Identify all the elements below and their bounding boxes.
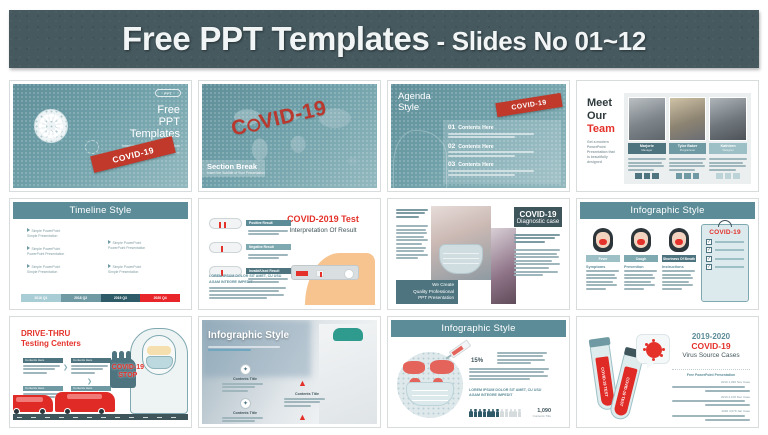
woman-avatar-icon [586, 226, 620, 254]
team-desc [709, 157, 747, 173]
infographic-subtitle [208, 344, 298, 353]
arrow-down-icon: ❯ [87, 378, 92, 385]
section-break-subtitle: Insert the Subtitle of Your Presentation [207, 171, 265, 176]
checklist-row[interactable]: ✓ [706, 239, 744, 245]
result-tag: Invalid/Used Result [246, 268, 291, 274]
team-nameplate: Kathleen Designer [709, 143, 747, 154]
team-title-line1: Meet [587, 97, 617, 110]
masked-people-outline [393, 130, 447, 188]
caption-head: LOREM IPSUM DOLOR SIT AMET, CU USU AGAM … [209, 274, 289, 285]
timeline-segment-label: 2016 Q1 [34, 296, 47, 300]
masked-woman-photo [431, 206, 491, 280]
agenda-list: 01Contents Here 02Contents Here 03Conten… [443, 120, 561, 184]
agenda-item-number: 03 [448, 161, 455, 168]
team-card[interactable]: Marjorie Manager [628, 97, 666, 180]
timeline-bar: 2016 Q1 2018 Q2 2019 Q3 2020 Q4 [21, 294, 180, 302]
team-title: Meet Our Team Get a modern PowerPoint Pr… [587, 97, 617, 166]
agenda-item-number: 01 [448, 124, 455, 131]
linkedin-icon[interactable] [676, 173, 683, 180]
woman-avatar-icon [662, 226, 696, 254]
slide-grid: PPT Free [9, 80, 759, 428]
checklist-row[interactable]: ✓ [706, 264, 744, 270]
content-box-label: Contents Here [23, 386, 63, 391]
timeline-note-text: Simple PowerPoint Simple Presentation [27, 229, 60, 238]
banner-title-sub: Slides No 01~12 [452, 26, 646, 56]
timeline-segment-label: 2018 Q2 [74, 296, 87, 300]
team-title-line2: Our [587, 110, 617, 123]
result-tag: Positive Result [246, 220, 291, 226]
timeline-note-text: Simple PowerPoint PowerPoint Presentatio… [108, 241, 145, 250]
result-tag-label: Invalid/Used Result [246, 268, 291, 274]
arrow-right-icon: ❯ [63, 364, 68, 371]
section-break-label: Section Break Insert the Subtitle of You… [202, 160, 265, 177]
team-nameplate: Marjorie Manager [628, 143, 666, 154]
social-icons[interactable] [709, 173, 747, 181]
infographic-node[interactable]: ✦ Contents Title [240, 364, 268, 393]
result-tag-label: Negative Result [246, 244, 291, 250]
timeline-header: Timeline Style [13, 202, 188, 219]
symptom-head: Symptoms [586, 265, 620, 269]
title-year: 2019-2020 [672, 332, 750, 341]
virus-source-title: 2019-2020 COVID-19 Virus Source Cases [672, 332, 750, 359]
team-card[interactable]: Kathleen Designer [709, 97, 747, 180]
caption-block: LOREM IPSUM DOLOR SIT AMET, CU USU AGAM … [209, 274, 289, 301]
slide-thumbnail-11[interactable]: Infographic Style 15% [387, 316, 570, 428]
team-title-line3: Team [587, 123, 617, 136]
footer-line3: PPT Presentation [418, 295, 454, 302]
node-icon: ✦ [240, 364, 251, 375]
block-head-wrap: LOREM IPSUM DOLOR SIT AMET, CU USU AGAM … [469, 388, 551, 399]
team-card[interactable]: Tylor Baker Programmer [669, 97, 707, 180]
symptom-card-list: Fever Symptoms Cough Prevention Shortnes… [586, 226, 696, 292]
diagnostic-title-line2: Diagnostic case [517, 219, 559, 225]
stat-body [469, 366, 551, 382]
result-desc [248, 252, 292, 261]
result-desc [248, 228, 292, 237]
symptom-card[interactable]: Shortness Of Breath Instructions [662, 226, 696, 292]
test-strip [209, 242, 242, 253]
stop-callout-line1: COVID-19 [112, 364, 144, 372]
content-box[interactable]: Contents Here [23, 358, 63, 375]
case-item[interactable]: 2019 1,090 Nov Case [672, 380, 750, 392]
left-text-column [396, 207, 429, 261]
agenda-item-number: 02 [448, 143, 455, 150]
checkbox-icon[interactable]: ✓ [706, 264, 712, 270]
content-box-label: Contents Here [23, 358, 63, 363]
case-item[interactable]: 2019 2,100 Dec Case [672, 395, 750, 407]
symptom-label-text: Shortness Of Breath [663, 257, 695, 261]
case-list: Free PowerPoint Presentation 2019 1,090 … [672, 366, 750, 424]
timeline-segment[interactable]: 2016 Q1 [21, 294, 61, 302]
stat-unit: % [478, 358, 483, 364]
node-head: Contents Title [222, 377, 268, 381]
drive-thru-title-line1: DRIVE-THRU [21, 329, 81, 339]
test-strip [209, 218, 242, 229]
team-desc [628, 157, 666, 173]
content-box-label: Contents Here [71, 358, 111, 363]
agenda-item-label: Contents Here [458, 162, 493, 168]
header-banner: Free PPT Templates - Slides No 01~12 [9, 10, 759, 68]
node-head: Contents Title [222, 411, 268, 415]
clipboard-checklist: COVID-19 ✓ ✓ ✓ ✓ [701, 224, 749, 302]
pictogram-row: 1,090 Contents Title [469, 408, 551, 418]
agenda-title-line2: Style [398, 102, 431, 113]
test-tube-label: COVID-19 TEST [600, 366, 609, 396]
slide1-title-line1: Free [106, 104, 180, 116]
symptom-label: Fever [586, 255, 620, 262]
case-list-head: Free PowerPoint Presentation [672, 373, 750, 377]
content-box[interactable]: Contents Here [71, 358, 111, 375]
stat-value: 15% [471, 350, 483, 365]
slide-thumbnail-08[interactable]: Infographic Style Fever Symptoms Cough P… [576, 198, 759, 310]
timeline-note: Simple PowerPoint PowerPoint Presentatio… [108, 240, 148, 251]
twitter-icon[interactable] [644, 173, 651, 180]
agenda-item[interactable]: 01Contents Here [448, 124, 556, 138]
clipboard-clip-icon [718, 220, 732, 227]
diagnostic-title-line1: COVID-19 [520, 210, 557, 219]
timeline-header-label: Timeline Style [69, 205, 131, 216]
checkbox-icon[interactable]: ✓ [706, 239, 712, 245]
test-tube-label: COVID-19 TEST [619, 376, 631, 406]
team-subtitle: Get a modern PowerPoint Presentation tha… [587, 140, 617, 166]
infographic-header: Infographic Style [391, 320, 566, 337]
infographic-header: Infographic Style [580, 202, 755, 219]
test-kit-illustration [291, 265, 359, 280]
slide-thumbnail-09[interactable]: DRIVE-THRU Testing Centers Contents Here… [9, 316, 192, 428]
arrow-up-icon: ▲ [298, 412, 307, 422]
team-photo [709, 97, 747, 141]
virus-icon [646, 342, 662, 358]
team-member-role: Programmer [680, 148, 696, 152]
timeline-segment-label: 2020 Q4 [154, 296, 167, 300]
symptom-card[interactable]: Cough Prevention [624, 226, 658, 292]
timeline-segment-label: 2019 Q3 [114, 296, 127, 300]
node-icon: ✦ [240, 398, 251, 409]
symptom-head: Instructions [662, 265, 696, 269]
linkedin-icon[interactable] [716, 173, 723, 180]
footer-callout: We Create Quality Professional PPT Prese… [396, 280, 458, 304]
result-tag-label: Positive Result [246, 220, 291, 226]
covid19-ribbon-label: COVID-19 [511, 99, 547, 111]
lab-vials-photo [491, 228, 516, 304]
case-item-title: 2020 4,079 Jan Case [672, 409, 750, 413]
social-icons[interactable] [628, 173, 666, 181]
team-nameplate: Tylor Baker Programmer [669, 143, 707, 154]
infographic-header-label: Infographic Style [208, 330, 289, 341]
drive-thru-title: DRIVE-THRU Testing Centers [21, 329, 81, 349]
facebook-icon[interactable] [733, 173, 740, 180]
timeline-note-text: Simple PowerPoint PowerPoint Presentatio… [27, 247, 64, 256]
linkedin-icon[interactable] [635, 173, 642, 180]
team-member-role: Manager [641, 148, 652, 152]
team-desc [669, 157, 707, 173]
timeline-segment[interactable]: 2020 Q4 [140, 294, 180, 302]
stop-callout-line2: STOP [112, 372, 144, 380]
symptom-head: Prevention [624, 265, 658, 269]
slide-thumbnail-10[interactable]: Infographic Style ✦ Contents Title ✦ Con… [198, 316, 381, 428]
slide-thumbnail-06[interactable]: COVID-2019 Test Interpretation Of Result… [198, 198, 381, 310]
checkbox-icon[interactable]: ✓ [706, 256, 712, 262]
infographic-header-label: Infographic Style [441, 323, 515, 334]
checkbox-icon[interactable]: ✓ [706, 247, 712, 253]
social-icons[interactable] [669, 173, 707, 181]
twitter-icon[interactable] [725, 173, 732, 180]
timeline-note: Simple PowerPoint Simple Presentation [27, 264, 67, 275]
facebook-icon[interactable] [652, 173, 659, 180]
car-illustration [55, 392, 115, 412]
team-card-list: Marjorie Manager Tylor Baker [624, 93, 751, 184]
agenda-title-line1: Agenda [398, 91, 431, 102]
agenda-item[interactable]: 02Contents Here [448, 143, 556, 157]
twitter-icon[interactable] [684, 173, 691, 180]
agenda-title: Agenda Style [398, 91, 431, 113]
medical-worker-photo [319, 324, 377, 424]
symptom-label: Cough [624, 255, 658, 262]
checklist-row[interactable]: ✓ [706, 247, 744, 253]
agenda-item[interactable]: 03Contents Here [448, 161, 556, 175]
case-item-title: 2019 1,090 Nov Case [672, 380, 750, 384]
stop-callout: COVID-19 STOP [112, 364, 144, 380]
stat-desc [497, 350, 549, 366]
timeline-note: Simple PowerPoint Simple Presentation [108, 264, 148, 275]
banner-title-main: Free PPT Templates [122, 20, 430, 57]
side-text-column [514, 232, 562, 278]
virus-speech-bubble [636, 334, 670, 364]
result-tag: Negative Result [246, 244, 291, 250]
timeline-note-text: Simple PowerPoint Simple Presentation [27, 265, 60, 274]
car-illustration [13, 395, 53, 412]
clipboard-title: COVID-19 [702, 229, 748, 236]
timeline-note: Simple PowerPoint Simple Presentation [27, 228, 67, 239]
agenda-item-label: Contents Here [458, 125, 493, 131]
slide-thumbnail-04[interactable]: Meet Our Team Get a modern PowerPoint Pr… [576, 80, 759, 192]
team-photo [628, 97, 666, 141]
road-strip [13, 414, 188, 420]
content-box-label: Contents Here [71, 386, 111, 391]
timeline-note-text: Simple PowerPoint Simple Presentation [108, 265, 141, 274]
pictogram-caption: Contents Title [533, 414, 551, 418]
drive-thru-title-line2: Testing Centers [21, 339, 81, 349]
slide-thumbnail-03[interactable]: Agenda Style COVID-19 01Contents Here 02… [387, 80, 570, 192]
masked-globe-icon [397, 352, 463, 418]
case-item-title: 2019 2,100 Dec Case [672, 395, 750, 399]
symptom-label: Shortness Of Breath [662, 255, 696, 262]
woman-avatar-icon [624, 226, 658, 254]
case-item[interactable]: 2020 4,079 Jan Case [672, 409, 750, 421]
checklist-row[interactable]: ✓ [706, 256, 744, 262]
facebook-icon[interactable] [693, 173, 700, 180]
arrow-up-icon: ▲ [298, 378, 307, 388]
symptom-card[interactable]: Fever Symptoms [586, 226, 620, 292]
symptom-label-text: Cough [636, 257, 646, 261]
section-break-title: Section Break [207, 162, 265, 171]
infographic-header-label: Infographic Style [630, 205, 704, 216]
ppt-logo: PPT [155, 89, 181, 97]
team-member-role: Designer [723, 148, 734, 152]
timeline-note: Simple PowerPoint PowerPoint Presentatio… [27, 246, 67, 257]
slide-thumbnail-05[interactable]: Timeline Style Simple PowerPoint Simple … [9, 198, 192, 310]
symptom-label-text: Fever [599, 257, 608, 261]
team-photo [669, 97, 707, 141]
stat-number: 15 [471, 358, 478, 364]
slide-thumbnail-02[interactable]: CVID-19 Section Break Insert the Subtitl… [198, 80, 381, 192]
title-sub: Virus Source Cases [672, 352, 750, 359]
slide-thumbnail-07[interactable]: COVID-19 Diagnostic case We Create Quali… [387, 198, 570, 310]
node-head: Contents Title [284, 392, 330, 396]
block-head: LOREM IPSUM DOLOR SIT AMET, CU USU AGAM … [469, 388, 551, 399]
infographic-node[interactable]: Contents Title [284, 390, 330, 408]
diagnostic-title: COVID-19 Diagnostic case [514, 207, 562, 227]
agenda-item-label: Contents Here [458, 144, 493, 150]
banner-title: Free PPT Templates - Slides No 01~12 [122, 20, 646, 58]
title-main: COVID-19 [672, 341, 750, 351]
infographic-node[interactable]: ✦ Contents Title [240, 398, 268, 424]
virus-globe-icon [27, 102, 75, 150]
page-root: Free PPT Templates - Slides No 01~12 PPT [0, 0, 768, 435]
banner-title-separator: - [430, 26, 452, 56]
timeline-segment[interactable]: 2018 Q2 [61, 294, 101, 302]
slide-thumbnail-12[interactable]: COVID-19 TEST COVID-19 TEST 2019-2020 CO… [576, 316, 759, 428]
slide-thumbnail-01[interactable]: PPT Free [9, 80, 192, 192]
timeline-segment[interactable]: 2019 Q3 [101, 294, 141, 302]
